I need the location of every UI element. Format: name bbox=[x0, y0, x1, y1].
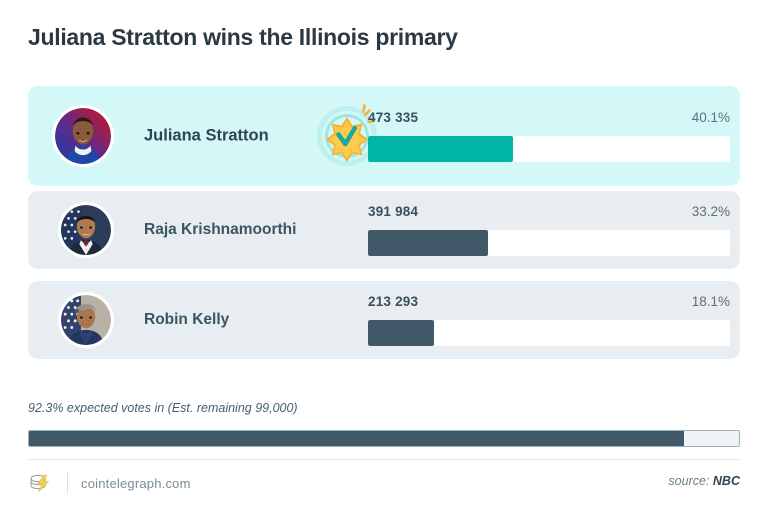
candidate-row-winner[interactable]: Juliana Stratton 473 335 40.1% bbox=[28, 86, 740, 186]
candidate-portrait-2 bbox=[61, 205, 111, 255]
candidate-row[interactable]: Raja Krishnamoorthi 391 984 33.2% bbox=[28, 191, 740, 269]
source-attribution: source: NBC bbox=[668, 474, 740, 488]
expected-votes-note: 92.3% expected votes in (Est. remaining … bbox=[28, 401, 298, 415]
source-label: source: bbox=[668, 474, 709, 488]
page-title: Juliana Stratton wins the Illinois prima… bbox=[28, 24, 458, 51]
candidate-name: Juliana Stratton bbox=[144, 127, 269, 146]
source-name: NBC bbox=[713, 474, 740, 488]
avatar bbox=[58, 202, 114, 258]
footer-divider bbox=[28, 459, 740, 460]
site-url[interactable]: cointelegraph.com bbox=[81, 476, 191, 491]
bar-track bbox=[368, 136, 730, 162]
bar-labels: 391 984 33.2% bbox=[368, 204, 730, 224]
bar-fill bbox=[368, 136, 513, 162]
footer-brand[interactable]: cointelegraph.com bbox=[28, 469, 191, 497]
cointelegraph-logo-icon bbox=[28, 472, 54, 494]
vote-count: 213 293 bbox=[368, 294, 418, 309]
avatar bbox=[58, 292, 114, 348]
candidate-portrait-1 bbox=[55, 108, 111, 164]
result-bar-block: 391 984 33.2% bbox=[368, 204, 730, 256]
bar-fill bbox=[368, 230, 488, 256]
bar-track bbox=[368, 320, 730, 346]
vote-percent: 18.1% bbox=[692, 294, 730, 309]
result-bar-block: 473 335 40.1% bbox=[368, 110, 730, 162]
candidate-row[interactable]: Robin Kelly 213 293 18.1% bbox=[28, 281, 740, 359]
infographic-page: Juliana Stratton wins the Illinois prima… bbox=[0, 0, 768, 519]
avatar bbox=[52, 105, 114, 167]
bar-labels: 213 293 18.1% bbox=[368, 294, 730, 314]
vote-count: 391 984 bbox=[368, 204, 418, 219]
total-progress-fill bbox=[29, 431, 684, 446]
footer-separator bbox=[67, 473, 68, 493]
vote-percent: 33.2% bbox=[692, 204, 730, 219]
vote-percent: 40.1% bbox=[692, 110, 730, 125]
candidate-list: Juliana Stratton 473 335 40.1% bbox=[28, 86, 740, 371]
vote-count: 473 335 bbox=[368, 110, 418, 125]
bar-labels: 473 335 40.1% bbox=[368, 110, 730, 130]
candidate-name: Robin Kelly bbox=[144, 311, 229, 329]
bar-fill bbox=[368, 320, 434, 346]
candidate-name: Raja Krishnamoorthi bbox=[144, 221, 296, 239]
bar-track bbox=[368, 230, 730, 256]
total-progress-track bbox=[28, 430, 740, 447]
candidate-portrait-3 bbox=[61, 295, 111, 345]
result-bar-block: 213 293 18.1% bbox=[368, 294, 730, 346]
